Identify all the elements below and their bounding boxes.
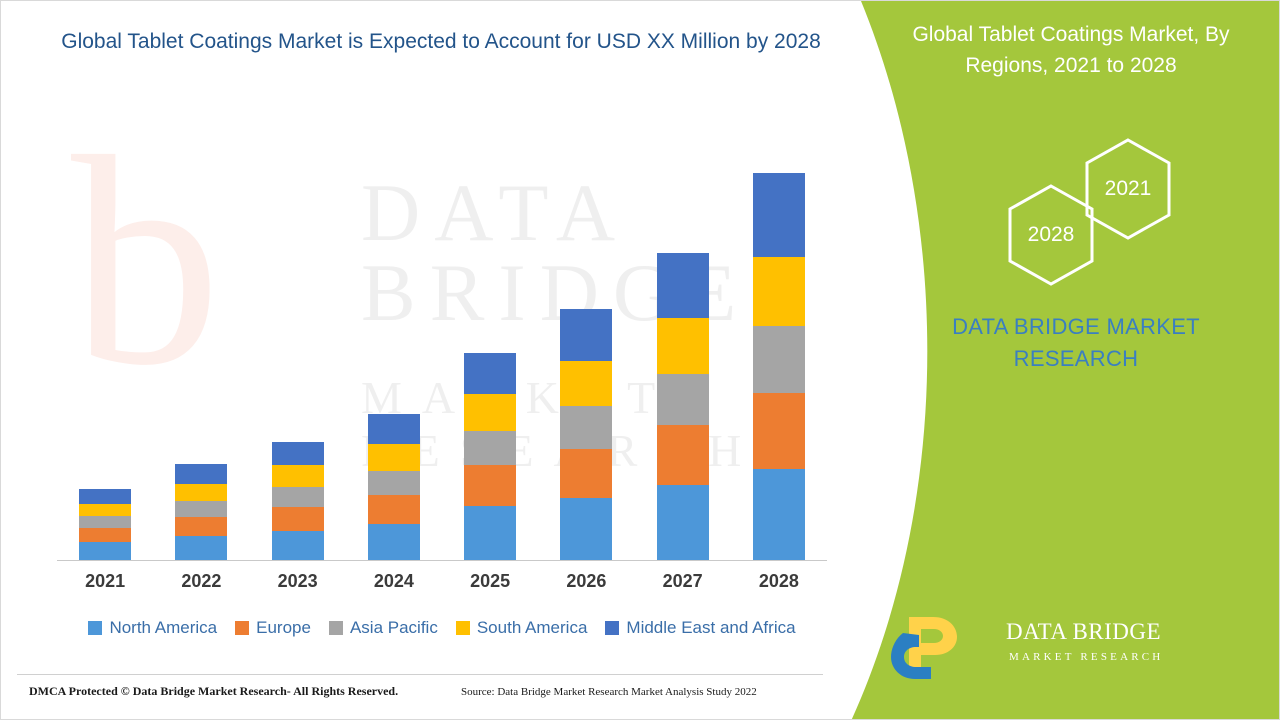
legend-swatch-icon [456, 621, 470, 635]
legend-label: Europe [256, 618, 311, 638]
bar-segment [272, 487, 324, 507]
bar-segment [368, 414, 420, 444]
legend-item[interactable]: Middle East and Africa [605, 618, 795, 638]
bar-segment [175, 464, 227, 483]
bar-segment [464, 465, 516, 506]
legend-swatch-icon [605, 621, 619, 635]
bar-segment [464, 506, 516, 560]
bar-segment [657, 318, 709, 374]
bar-segment [175, 517, 227, 536]
legend-label: Asia Pacific [350, 618, 438, 638]
bar-segment [79, 528, 131, 542]
bar-segment [560, 406, 612, 449]
bar-segment [79, 516, 131, 528]
chart-title: Global Tablet Coatings Market is Expecte… [61, 27, 821, 57]
x-axis-label-2024: 2024 [346, 571, 442, 592]
bar-segment [368, 495, 420, 524]
x-axis-label-2025: 2025 [442, 571, 538, 592]
infographic-page: b DATA BRIDGE MARKET RESEARCH Global Tab… [0, 0, 1280, 720]
bar-segment [464, 394, 516, 431]
footer-source: Source: Data Bridge Market Research Mark… [461, 686, 757, 698]
bar-segment [368, 524, 420, 560]
chart-plot-area: 20212022202320242025202620272028 [57, 151, 827, 561]
footer-copyright: DMCA Protected © Data Bridge Market Rese… [29, 684, 398, 699]
x-axis-label-2026: 2026 [538, 571, 634, 592]
bar-segment [368, 444, 420, 471]
bar-segment [175, 501, 227, 517]
bar-segment [79, 504, 131, 516]
bar-segment [79, 489, 131, 504]
legend-item[interactable]: South America [456, 618, 588, 638]
legend-swatch-icon [329, 621, 343, 635]
legend-swatch-icon [235, 621, 249, 635]
bar-segment [753, 469, 805, 560]
bar-segment [753, 257, 805, 327]
bar-segment [657, 374, 709, 426]
bar-segment [657, 425, 709, 484]
bar-segment [657, 485, 709, 560]
bar-group-2021 [79, 489, 131, 560]
panel-title: Global Tablet Coatings Market, By Region… [871, 19, 1271, 81]
bar-segment [175, 536, 227, 560]
panel-brand-text: DATA BRIDGE MARKET RESEARCH [931, 311, 1221, 375]
chart-legend: North AmericaEuropeAsia PacificSouth Ame… [57, 618, 827, 638]
x-axis-label-2028: 2028 [731, 571, 827, 592]
x-axis-label-2022: 2022 [153, 571, 249, 592]
bar-segment [657, 253, 709, 318]
legend-item[interactable]: North America [88, 618, 217, 638]
bar-segment [560, 498, 612, 560]
bar-group-2022 [175, 464, 227, 560]
logo-subtitle: MARKET RESEARCH [1009, 651, 1163, 663]
bar-group-2028 [753, 173, 805, 560]
hexagon-2021-label: 2021 [1083, 177, 1173, 201]
logo-mark-icon [891, 613, 996, 681]
legend-label: South America [477, 618, 588, 638]
bar-segment [272, 507, 324, 531]
bar-segment [753, 173, 805, 257]
bar-segment [560, 449, 612, 497]
legend-item[interactable]: Asia Pacific [329, 618, 438, 638]
bar-segment [464, 431, 516, 465]
bar-segment [753, 326, 805, 393]
bar-segment [560, 361, 612, 406]
x-axis-line [57, 560, 827, 561]
bar-segment [464, 353, 516, 394]
bar-group-2027 [657, 253, 709, 560]
bar-segment [560, 309, 612, 361]
legend-swatch-icon [88, 621, 102, 635]
bar-group-2024 [368, 414, 420, 560]
bar-segment [753, 393, 805, 468]
x-axis-label-2021: 2021 [57, 571, 153, 592]
bar-segment [272, 465, 324, 487]
bar-segment [368, 471, 420, 496]
x-axis-label-2027: 2027 [635, 571, 731, 592]
bar-segment [272, 531, 324, 560]
legend-label: Middle East and Africa [626, 618, 795, 638]
x-axis-label-2023: 2023 [250, 571, 346, 592]
bar-group-2023 [272, 442, 324, 560]
data-bridge-logo: DATA BRIDGE MARKET RESEARCH [891, 613, 1231, 683]
bar-segment [272, 442, 324, 466]
bar-segment [175, 484, 227, 501]
bar-group-2025 [464, 353, 516, 560]
footer-divider [17, 674, 823, 675]
bar-group-2026 [560, 309, 612, 560]
hexagon-2021: 2021 [1083, 137, 1173, 241]
legend-label: North America [109, 618, 217, 638]
bar-segment [79, 542, 131, 560]
legend-item[interactable]: Europe [235, 618, 311, 638]
logo-name: DATA BRIDGE [1006, 619, 1161, 645]
